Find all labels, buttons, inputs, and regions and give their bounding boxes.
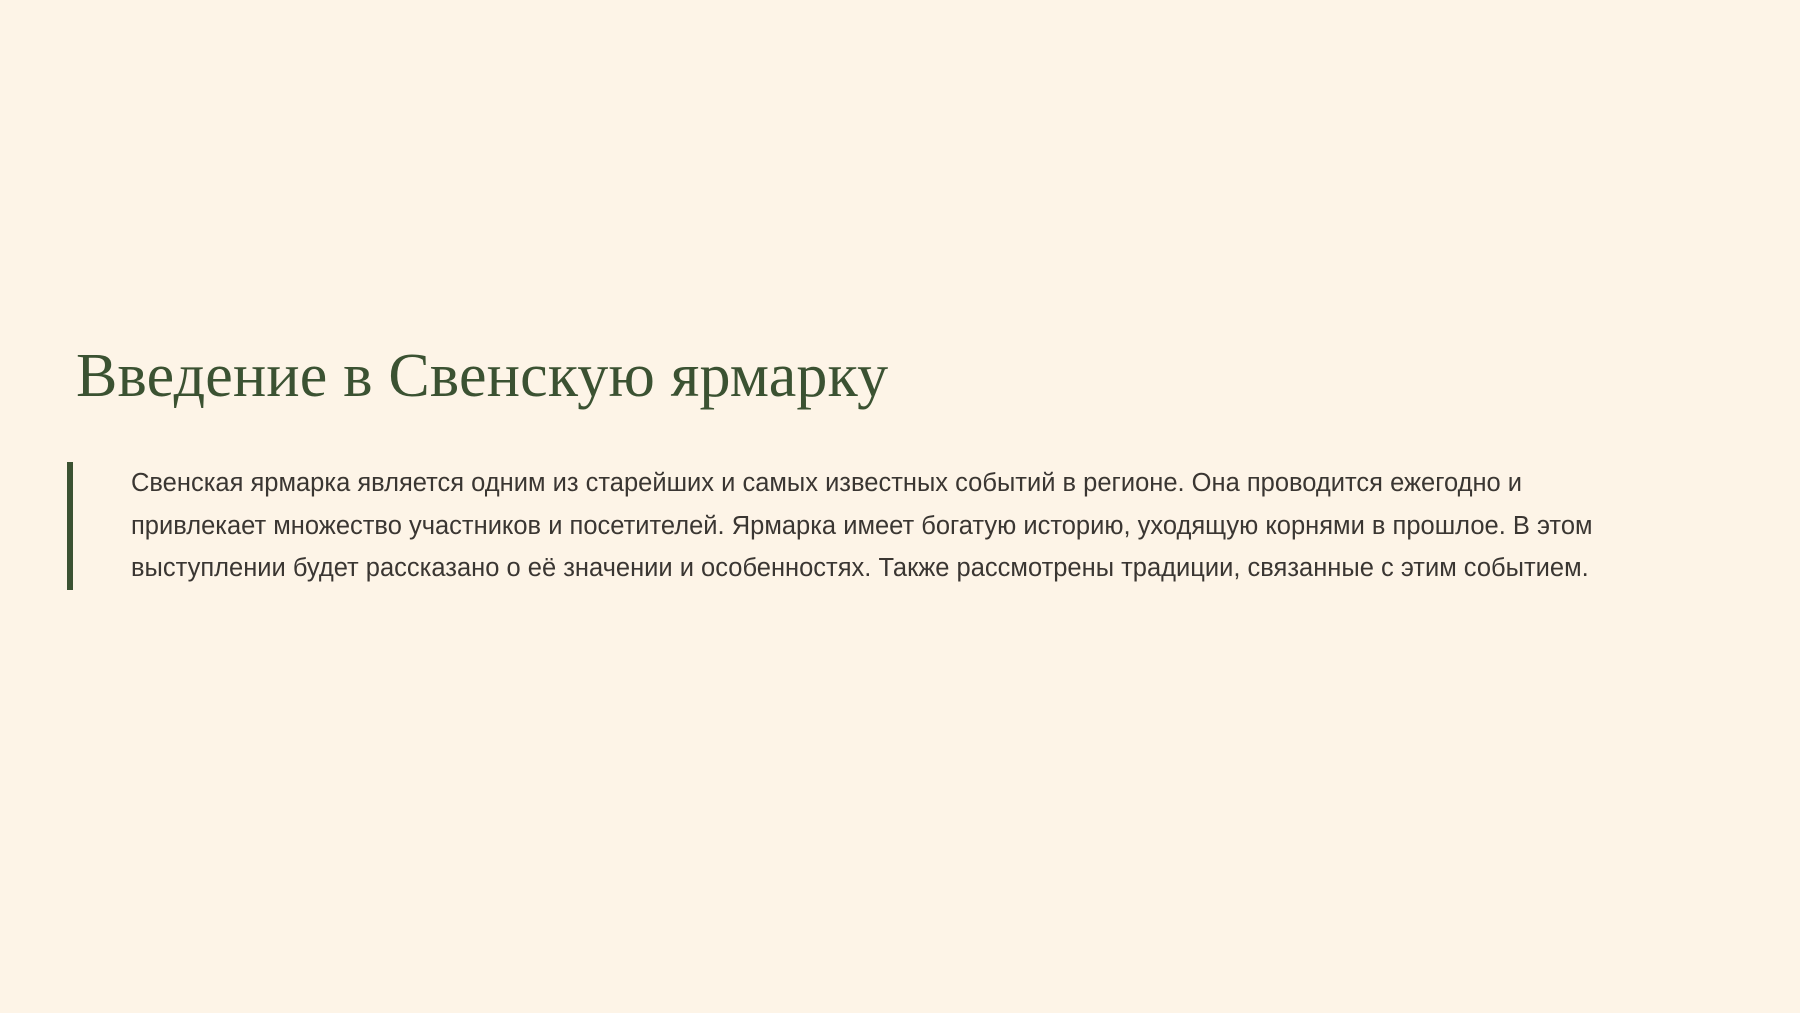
body-paragraph: Свенская ярмарка является одним из старе… [73, 462, 1653, 590]
slide-canvas: Введение в Свенскую ярмарку Свенская ярм… [0, 0, 1800, 1013]
body-callout: Свенская ярмарка является одним из старе… [67, 462, 1717, 590]
page-title: Введение в Свенскую ярмарку [76, 340, 888, 413]
